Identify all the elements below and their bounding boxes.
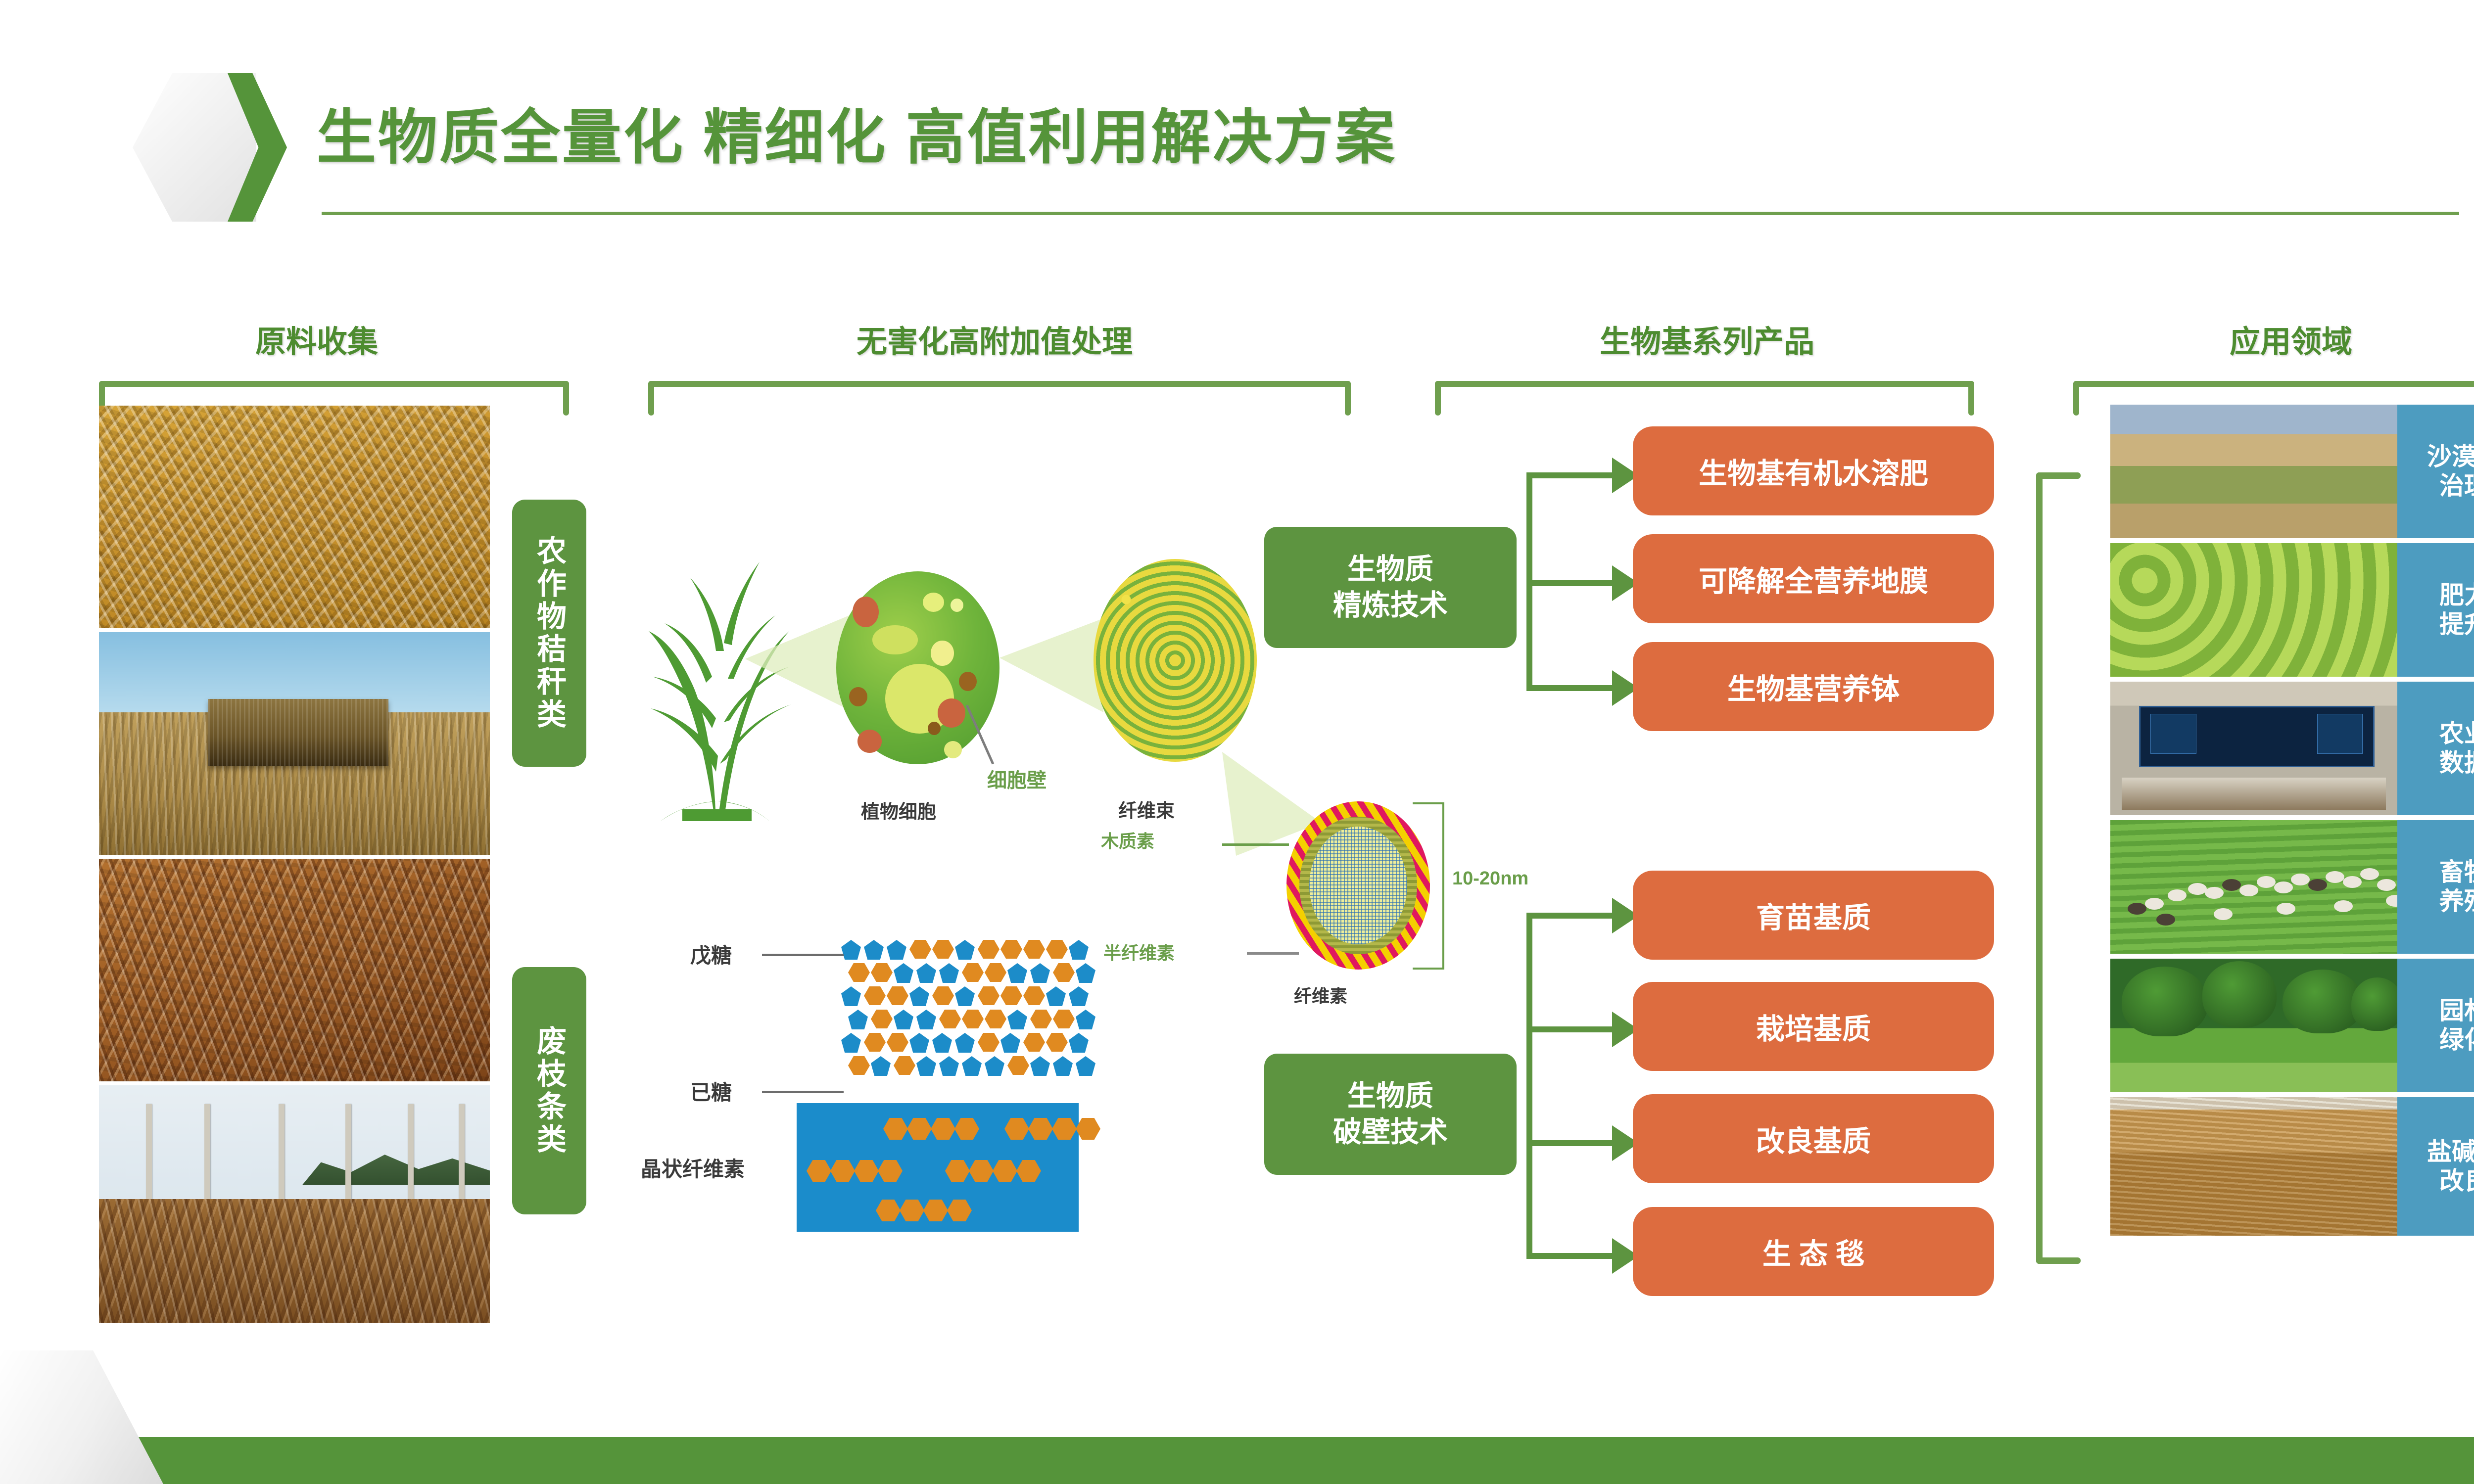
glucose-unit-icon (807, 1160, 831, 1182)
agri-data-center-photo (2110, 682, 2397, 815)
pentose-unit-icon (841, 940, 861, 960)
plant-cell-label: 植物细胞 (861, 796, 936, 824)
pentose-unit-icon (962, 1056, 982, 1076)
pentose-unit-icon (894, 963, 913, 983)
application-line-2: 数据 (2439, 748, 2474, 778)
hexose-unit-icon (864, 1033, 886, 1052)
hexose-unit-icon (894, 1056, 915, 1075)
application-tag-data: 农业 数据 (2397, 682, 2474, 815)
hexose-unit-icon (978, 986, 999, 1005)
bracket-to-applications (2036, 472, 2081, 1264)
plant-cell-illustration (836, 571, 999, 764)
sheep-icon (2222, 879, 2241, 891)
pentose-unit-icon (909, 1033, 929, 1053)
fiber-bundle-illustration (1094, 559, 1257, 762)
product-label: 改良基质 (1756, 1118, 1871, 1159)
application-line-1: 畜牧 (2439, 858, 2474, 887)
application-tag-livestock: 畜牧 养殖 (2397, 820, 2474, 954)
application-tag-saline: 盐碱地 改良 (2397, 1097, 2474, 1236)
product-box-improvement-substrate[interactable]: 改良基质 (1633, 1094, 1994, 1183)
product-label: 生 态 毯 (1762, 1231, 1864, 1272)
hexose-unit-icon (1023, 1033, 1045, 1052)
pentose-unit-icon (955, 1033, 975, 1053)
sheep-icon (2343, 876, 2362, 888)
hexose-unit-icon (848, 1056, 870, 1075)
dry-branches-photo (99, 859, 490, 1081)
application-row-livestock[interactable]: 畜牧 养殖 (2110, 820, 2474, 954)
fiber-bundle-label: 纤维束 (1118, 795, 1175, 823)
dimension-vertical-line (1442, 802, 1444, 970)
application-line-2: 改良 (2439, 1166, 2474, 1196)
feedstock-category-crop-straw: 农作物秸秆类 (512, 500, 586, 767)
application-line-2: 提升 (2439, 610, 2474, 639)
sheep-icon (2326, 871, 2344, 883)
product-label: 育苗基质 (1756, 894, 1871, 936)
hexose-unit-icon (1023, 940, 1045, 959)
application-row-desert[interactable]: 沙漠化 治理 (2110, 405, 2474, 538)
arrow-trunk-wallbreaking (1526, 913, 1532, 1259)
product-label: 栽培基质 (1756, 1006, 1871, 1047)
pentose-unit-icon (1046, 986, 1066, 1006)
hexose-unit-icon (1000, 986, 1022, 1005)
product-box-water-soluble-fertilizer[interactable]: 生物基有机水溶肥 (1633, 426, 1994, 515)
pentose-unit-icon (955, 940, 975, 960)
landscape-greening-photo (2110, 959, 2397, 1092)
application-line-1: 盐碱地 (2427, 1137, 2474, 1166)
tech-box-wallbreaking[interactable]: 生物质 破壁技术 (1264, 1054, 1517, 1175)
sheep-icon (2257, 876, 2276, 888)
footer-shape-decoration (0, 1350, 163, 1484)
glucose-unit-icon (1076, 1118, 1100, 1140)
feedstock-category-waste-branches: 废枝条类 (512, 967, 586, 1214)
section-header-products: 生物基系列产品 (1435, 317, 1979, 361)
tech-box-refining[interactable]: 生物质 精炼技术 (1264, 527, 1517, 648)
sheep-icon (2145, 898, 2164, 910)
dimension-tick-bottom (1413, 968, 1443, 970)
title-underline (322, 212, 2459, 215)
glucose-unit-icon (1052, 1118, 1077, 1140)
hexose-unit-icon (985, 1010, 1006, 1028)
footer-bar (99, 1437, 2474, 1484)
application-tag-greening: 园林 绿化 (2397, 959, 2474, 1092)
pentose-unit-icon (955, 986, 975, 1006)
sheep-icon (2377, 879, 2396, 891)
glucose-unit-icon (883, 1118, 908, 1140)
hexose-unit-icon (1023, 986, 1045, 1005)
orchard-pruning-photo (99, 1085, 490, 1323)
hexose-unit-icon (1046, 940, 1068, 959)
glucose-unit-icon (923, 1200, 948, 1221)
pentose-unit-icon (1030, 963, 1050, 983)
pentose-leader-line (762, 954, 844, 956)
hexose-unit-icon (1007, 1056, 1029, 1075)
glucose-unit-icon (1028, 1118, 1053, 1140)
glucose-unit-icon (854, 1160, 879, 1182)
sugar-chain-illustration (841, 940, 1118, 1103)
pentose-unit-icon (1030, 1056, 1050, 1076)
pentose-unit-icon (864, 940, 884, 960)
pentose-unit-icon (939, 1056, 959, 1076)
pentose-unit-icon (1069, 940, 1089, 960)
bracket-products (1435, 381, 1974, 416)
hexose-unit-icon (978, 1033, 999, 1052)
pentose-unit-icon (1076, 1010, 1095, 1029)
desert-control-photo (2110, 405, 2397, 538)
pentose-unit-icon (916, 1056, 936, 1076)
section-header-applications: 应用领域 (2068, 317, 2474, 361)
pentose-unit-icon (1053, 1056, 1073, 1076)
product-box-seedling-substrate[interactable]: 育苗基质 (1633, 871, 1994, 960)
pentose-unit-icon (871, 1056, 891, 1076)
product-label: 生物基有机水溶肥 (1699, 450, 1928, 492)
arrow-branch-5 (1526, 1026, 1616, 1032)
pentose-label: 戊糖 (690, 939, 732, 969)
application-line-1: 园林 (2439, 996, 2474, 1025)
application-tag-fertility: 肥力 提升 (2397, 543, 2474, 677)
glucose-unit-icon (931, 1118, 955, 1140)
glucose-unit-icon (907, 1118, 932, 1140)
application-line-1: 沙漠化 (2427, 442, 2474, 471)
product-label: 可降解全营养地膜 (1699, 558, 1928, 600)
tech-line-2: 破壁技术 (1333, 1114, 1448, 1151)
sheep-icon (2168, 889, 2187, 901)
pentose-unit-icon (841, 1033, 861, 1053)
product-label: 生物基营养钵 (1727, 666, 1900, 707)
magnify-beam-2 (999, 618, 1103, 712)
pentose-unit-icon (985, 1056, 1004, 1076)
product-box-ecological-blanket[interactable]: 生 态 毯 (1633, 1207, 1994, 1296)
glucose-unit-icon (1016, 1160, 1041, 1182)
arrow-branch-2 (1526, 580, 1616, 586)
cellwall-label: 细胞壁 (987, 764, 1047, 793)
sheep-icon (2214, 908, 2233, 920)
glucose-unit-icon (969, 1160, 994, 1182)
pentose-unit-icon (887, 940, 906, 960)
pentose-unit-icon (1007, 963, 1027, 983)
hexose-unit-icon (962, 963, 984, 982)
bracket-processing (648, 381, 1351, 416)
hexose-unit-icon (909, 940, 931, 959)
hexose-unit-icon (962, 1010, 984, 1028)
hexose-unit-icon (932, 940, 954, 959)
hexose-leader-line (762, 1091, 844, 1093)
sheep-icon (2274, 881, 2293, 893)
sheep-icon (2205, 887, 2224, 899)
saline-land-photo (2110, 1097, 2397, 1236)
sheep-icon (2239, 884, 2258, 896)
hexose-unit-icon (1053, 963, 1075, 982)
glucose-unit-icon (954, 1118, 979, 1140)
straw-bale-field-photo (99, 632, 490, 855)
application-row-saline[interactable]: 盐碱地 改良 (2110, 1097, 2474, 1236)
glucose-unit-icon (830, 1160, 855, 1182)
crystalline-cellulose-label: 晶状纤维素 (641, 1153, 745, 1183)
page-title: 生物质全量化 精细化 高值利用解决方案 (317, 89, 1397, 175)
pentose-unit-icon (916, 963, 936, 983)
feedstock-category-label: 废枝条类 (534, 1025, 565, 1156)
hexose-unit-icon (1000, 940, 1022, 959)
hexose-unit-icon (887, 1033, 908, 1052)
hexose-unit-icon (1053, 1010, 1075, 1028)
hexose-unit-icon (848, 963, 870, 982)
sheep-icon (2156, 914, 2175, 926)
application-line-2: 养殖 (2439, 887, 2474, 916)
crystalline-cellulose-panel (797, 1103, 1079, 1232)
sheep-icon (2386, 895, 2397, 907)
hemicellulose-leader-line (1247, 952, 1299, 955)
section-header-collection: 原料收集 (163, 317, 470, 361)
pentose-unit-icon (1076, 1056, 1095, 1076)
pentose-unit-icon (909, 986, 929, 1006)
pentose-unit-icon (1076, 963, 1095, 983)
application-line-2: 绿化 (2439, 1025, 2474, 1055)
pentose-unit-icon (1069, 1033, 1089, 1053)
arrow-branch-1 (1526, 472, 1616, 478)
application-row-fertility[interactable]: 肥力 提升 (2110, 543, 2474, 677)
tech-line-1: 生物质 (1347, 552, 1433, 588)
corn-stalks-photo (99, 406, 490, 628)
glucose-unit-icon (945, 1160, 970, 1182)
lignin-label: 木质素 (1101, 827, 1154, 853)
sheep-icon (2334, 900, 2353, 912)
tech-line-1: 生物质 (1347, 1078, 1433, 1114)
hexose-unit-icon (932, 986, 954, 1005)
product-box-degradable-mulch-film[interactable]: 可降解全营养地膜 (1633, 534, 1994, 623)
infographic-slide: 生物质全量化 精细化 高值利用解决方案 原料收集 无害化高附加值处理 生物基系列… (0, 0, 2474, 1484)
pentose-unit-icon (932, 1033, 952, 1053)
pentose-unit-icon (1007, 1010, 1027, 1029)
product-box-cultivation-substrate[interactable]: 栽培基质 (1633, 982, 1994, 1071)
sheep-icon (2360, 868, 2379, 880)
feedstock-category-label: 农作物秸秆类 (534, 535, 565, 731)
sheep-icon (2308, 879, 2327, 891)
arrow-branch-4 (1526, 913, 1616, 919)
glucose-unit-icon (1004, 1118, 1029, 1140)
tech-line-2: 精炼技术 (1333, 588, 1448, 624)
arrow-branch-6 (1526, 1140, 1616, 1146)
glucose-unit-icon (876, 1200, 901, 1221)
product-box-nutrient-pot[interactable]: 生物基营养钵 (1633, 642, 1994, 731)
sheep-icon (2277, 903, 2295, 915)
pentose-unit-icon (841, 986, 861, 1006)
hexose-unit-icon (1030, 1010, 1052, 1028)
hexose-unit-icon (978, 940, 999, 959)
hexose-unit-icon (939, 1010, 961, 1028)
pentose-unit-icon (916, 1010, 936, 1029)
sheep-icon (2188, 883, 2207, 895)
hexose-unit-icon (864, 986, 886, 1005)
sheep-icon (2128, 903, 2146, 915)
glucose-unit-icon (900, 1200, 924, 1221)
glucose-unit-icon (993, 1160, 1017, 1182)
hexose-unit-icon (1046, 1033, 1068, 1052)
pentose-unit-icon (939, 963, 959, 983)
glucose-unit-icon (947, 1200, 972, 1221)
livestock-grazing-photo (2110, 820, 2397, 954)
hexose-unit-icon (871, 1010, 893, 1028)
cellulose-label: 纤维素 (1294, 982, 1347, 1008)
glucose-unit-icon (878, 1160, 903, 1182)
arrow-branch-7 (1526, 1253, 1616, 1259)
dimension-tick-top (1413, 802, 1443, 804)
hexose-label: 已糖 (690, 1076, 732, 1106)
hexose-unit-icon (871, 963, 893, 982)
cellulose-cross-section (1286, 801, 1430, 970)
arrow-branch-3 (1526, 685, 1616, 691)
plant-silhouette-icon (621, 544, 809, 821)
application-row-data[interactable]: 农业 数据 (2110, 682, 2474, 815)
hexose-unit-icon (887, 986, 908, 1005)
application-line-1: 农业 (2439, 719, 2474, 748)
pentose-unit-icon (894, 1010, 913, 1029)
soil-fertility-photo (2110, 543, 2397, 677)
application-line-1: 肥力 (2439, 581, 2474, 610)
hexose-unit-icon (985, 963, 1006, 982)
application-tag-desert: 沙漠化 治理 (2397, 405, 2474, 538)
pentose-unit-icon (1000, 1033, 1020, 1053)
dimension-label: 10-20nm (1452, 868, 1528, 889)
section-header-processing: 无害化高附加值处理 (609, 317, 1380, 361)
application-row-greening[interactable]: 园林 绿化 (2110, 959, 2474, 1092)
pentose-unit-icon (1069, 986, 1089, 1006)
lignin-leader-line (1222, 843, 1289, 846)
pentose-unit-icon (848, 1010, 868, 1029)
sheep-icon (2291, 874, 2310, 885)
application-line-2: 治理 (2439, 471, 2474, 501)
